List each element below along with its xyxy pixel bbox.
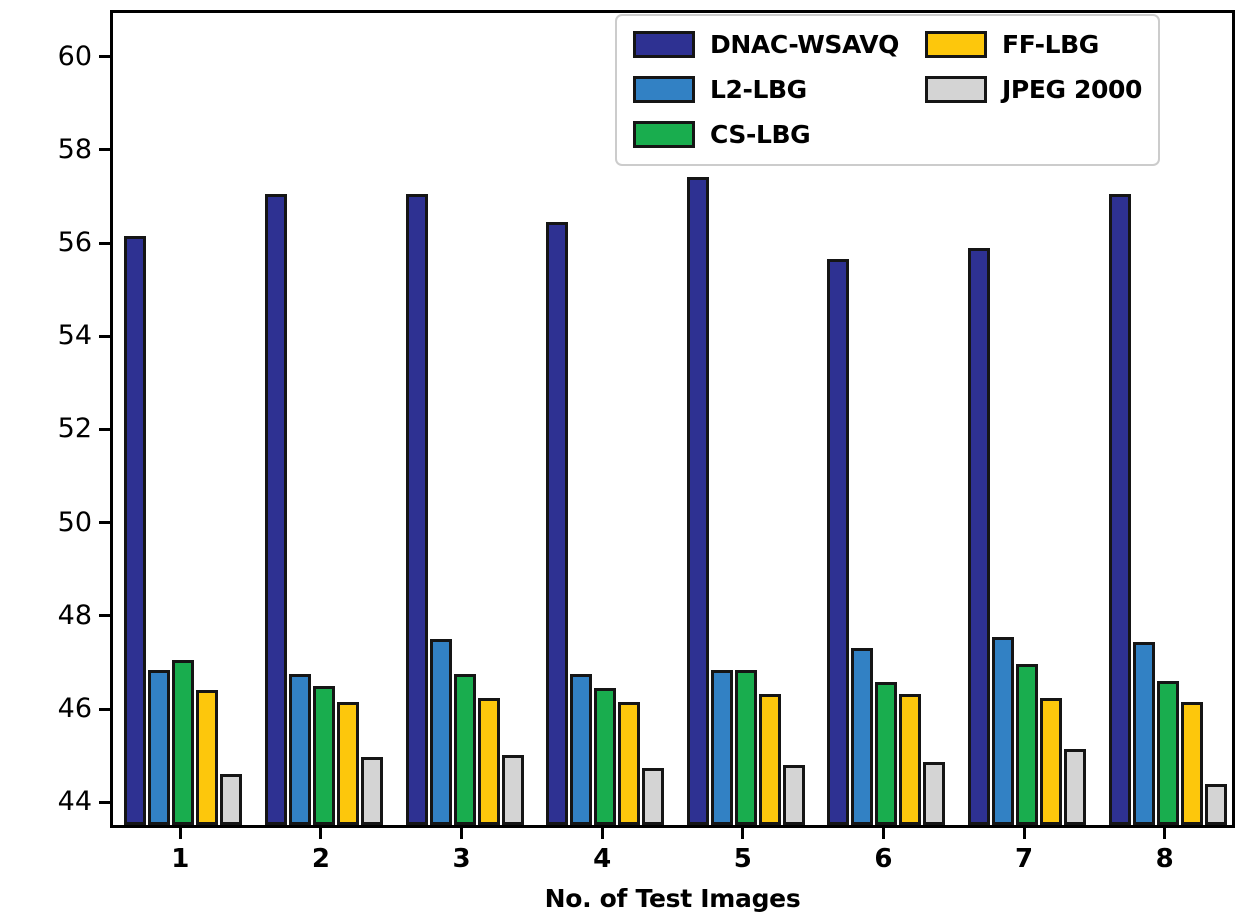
x-tick-mark	[1163, 828, 1166, 839]
legend-item: JPEG 2000	[925, 73, 1142, 105]
y-tick-label: 60	[58, 40, 92, 74]
bar	[313, 686, 335, 825]
bar	[618, 702, 640, 825]
bar	[406, 194, 428, 825]
y-tick-label: 54	[58, 319, 92, 353]
bar	[1205, 784, 1227, 825]
y-tick-mark	[99, 55, 110, 58]
x-tick-mark	[882, 828, 885, 839]
bar	[196, 690, 218, 825]
y-tick-mark	[99, 614, 110, 617]
y-tick-label: 48	[58, 599, 92, 633]
bar	[1181, 702, 1203, 825]
x-tick-mark	[601, 828, 604, 839]
legend-swatch	[633, 76, 695, 103]
bar-chart-figure: Peak Signal Noise Ratio (dB) 44464850525…	[0, 0, 1250, 923]
legend-label: DNAC-WSAVQ	[710, 30, 899, 59]
y-tick-mark	[99, 708, 110, 711]
bar	[1133, 642, 1155, 825]
bar	[687, 177, 709, 825]
x-tick-label: 6	[843, 844, 923, 874]
x-tick-mark	[460, 828, 463, 839]
legend-item: FF-LBG	[925, 28, 1142, 60]
bar	[1157, 681, 1179, 825]
y-tick-label: 44	[58, 785, 92, 819]
bar	[783, 765, 805, 825]
bar	[1016, 664, 1038, 825]
bar	[735, 670, 757, 825]
bar	[923, 762, 945, 825]
bar	[220, 774, 242, 825]
bar	[337, 702, 359, 825]
y-tick-mark	[99, 428, 110, 431]
bar	[759, 694, 781, 825]
bar	[1064, 749, 1086, 825]
y-tick-mark	[99, 801, 110, 804]
x-tick-mark	[179, 828, 182, 839]
y-tick-mark	[99, 335, 110, 338]
y-tick-label: 46	[58, 692, 92, 726]
bar	[594, 688, 616, 825]
bar	[899, 694, 921, 825]
legend-label: FF-LBG	[1002, 30, 1099, 59]
y-tick-label: 50	[58, 506, 92, 540]
chart-legend: DNAC-WSAVQL2-LBGCS-LBGFF-LBGJPEG 2000	[615, 14, 1160, 166]
y-tick-label: 56	[58, 226, 92, 260]
bar	[502, 755, 524, 825]
y-axis-title: Peak Signal Noise Ratio (dB)	[8, 0, 42, 44]
legend-swatch	[925, 76, 987, 103]
bar	[968, 248, 990, 825]
legend-item: CS-LBG	[633, 118, 899, 150]
bar	[1040, 698, 1062, 825]
legend-swatch	[633, 31, 695, 58]
legend-item: DNAC-WSAVQ	[633, 28, 899, 60]
bar	[642, 768, 664, 825]
bar	[148, 670, 170, 825]
bar	[711, 670, 733, 825]
x-tick-label: 1	[140, 844, 220, 874]
y-tick-mark	[99, 521, 110, 524]
x-tick-mark	[1023, 828, 1026, 839]
bar	[992, 637, 1014, 825]
bar	[570, 674, 592, 825]
bar	[875, 682, 897, 825]
x-tick-label: 7	[984, 844, 1064, 874]
x-tick-label: 8	[1125, 844, 1205, 874]
bar	[827, 259, 849, 825]
bar	[1109, 194, 1131, 825]
legend-column: DNAC-WSAVQL2-LBGCS-LBG	[633, 28, 899, 150]
legend-label: CS-LBG	[710, 120, 810, 149]
bar	[265, 194, 287, 825]
legend-label: JPEG 2000	[1002, 75, 1142, 104]
legend-label: L2-LBG	[710, 75, 807, 104]
bar	[478, 698, 500, 825]
legend-column: FF-LBGJPEG 2000	[925, 28, 1142, 105]
bar	[124, 236, 146, 825]
bar	[546, 222, 568, 825]
bar	[361, 757, 383, 825]
x-tick-label: 4	[562, 844, 642, 874]
x-tick-mark	[319, 828, 322, 839]
bar	[430, 639, 452, 825]
x-tick-label: 3	[422, 844, 502, 874]
legend-swatch	[925, 31, 987, 58]
bar	[454, 674, 476, 825]
y-tick-mark	[99, 242, 110, 245]
legend-item: L2-LBG	[633, 73, 899, 105]
x-tick-label: 5	[703, 844, 783, 874]
y-tick-label: 52	[58, 412, 92, 446]
bar	[851, 648, 873, 825]
x-tick-label: 2	[281, 844, 361, 874]
x-axis-title: No. of Test Images	[110, 884, 1235, 913]
y-tick-mark	[99, 148, 110, 151]
x-tick-mark	[741, 828, 744, 839]
legend-swatch	[633, 121, 695, 148]
bar	[289, 674, 311, 825]
y-tick-label: 58	[58, 133, 92, 167]
bar	[172, 660, 194, 825]
